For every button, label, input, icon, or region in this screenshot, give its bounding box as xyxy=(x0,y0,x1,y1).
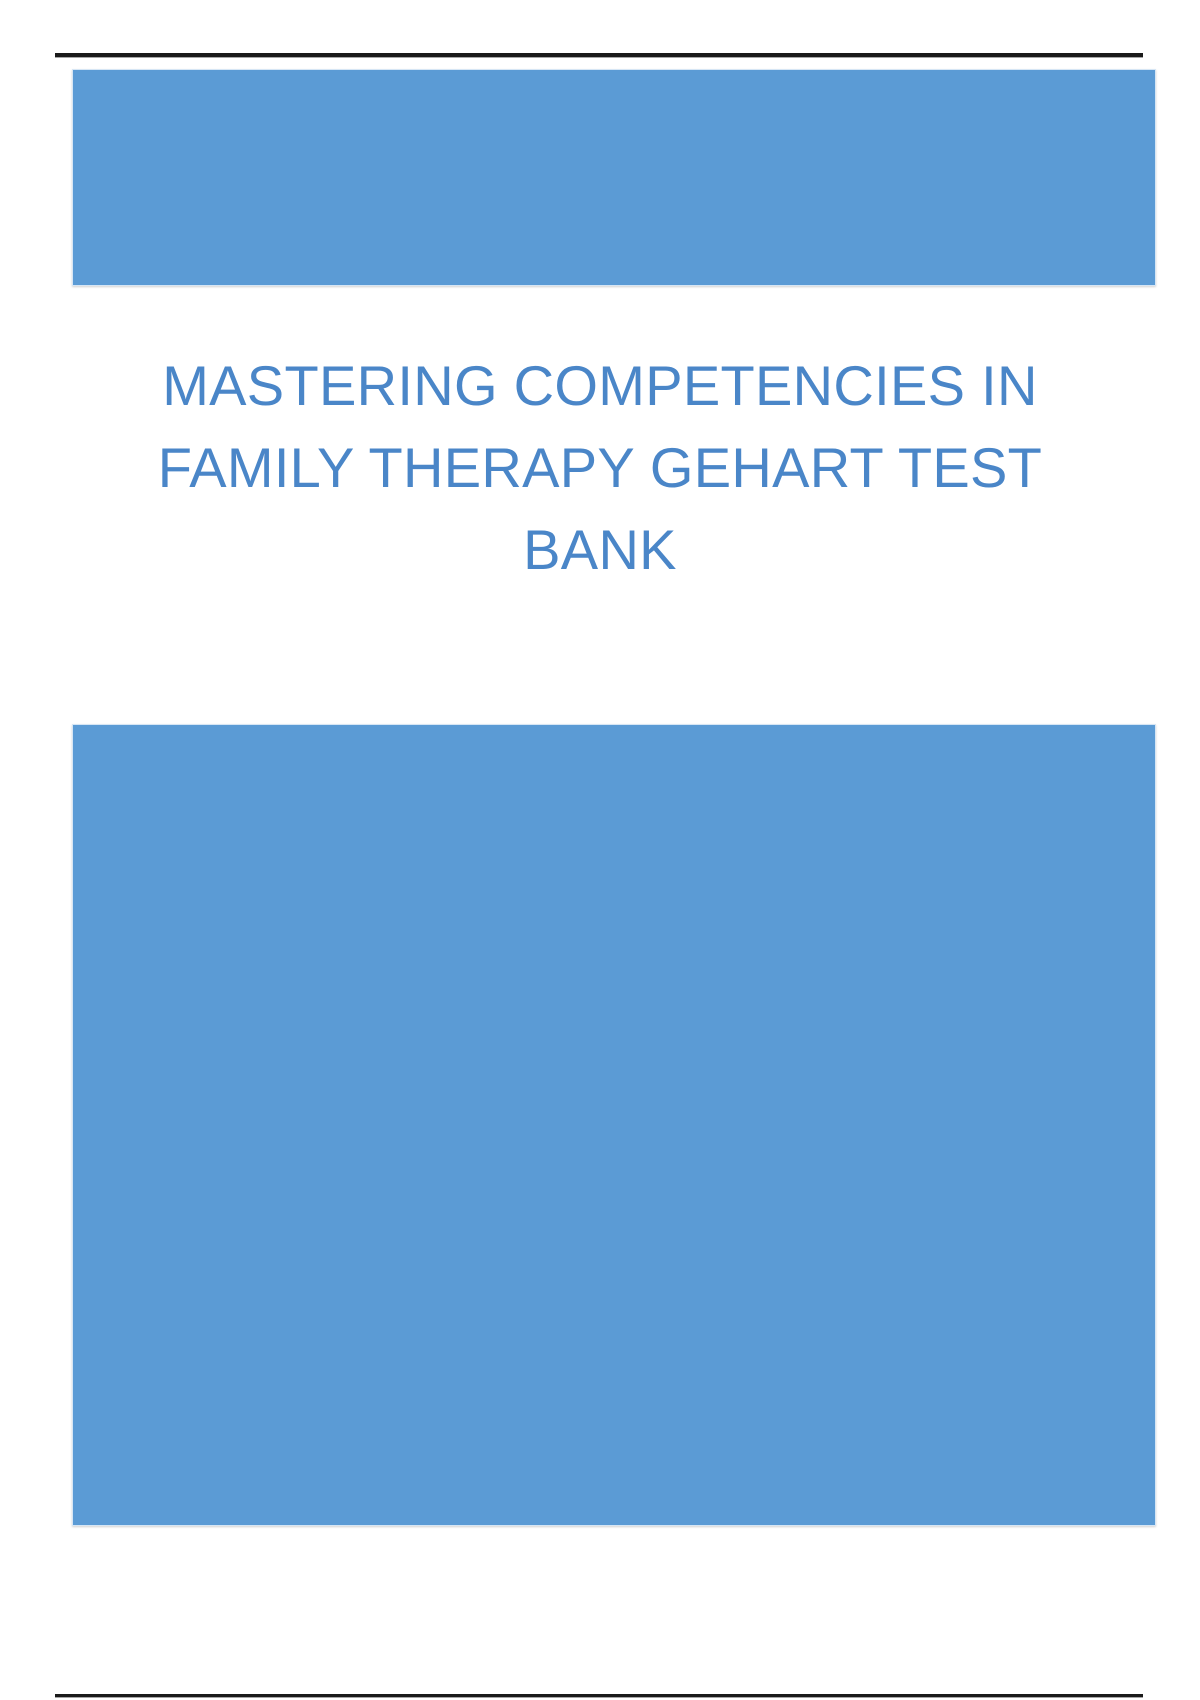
page-title: MASTERING COMPETENCIES IN FAMILY THERAPY… xyxy=(120,345,1080,591)
cover-image-placeholder-top xyxy=(72,69,1156,286)
page-title-line-3: BANK xyxy=(120,509,1080,591)
footer-divider-rule xyxy=(55,1694,1143,1697)
cover-image-placeholder-bottom xyxy=(72,724,1156,1526)
document-page: MASTERING COMPETENCIES IN FAMILY THERAPY… xyxy=(0,0,1200,1700)
page-title-line-1: MASTERING COMPETENCIES IN xyxy=(120,345,1080,427)
page-title-line-2: FAMILY THERAPY GEHART TEST xyxy=(120,427,1080,509)
header-divider-rule xyxy=(55,53,1143,57)
